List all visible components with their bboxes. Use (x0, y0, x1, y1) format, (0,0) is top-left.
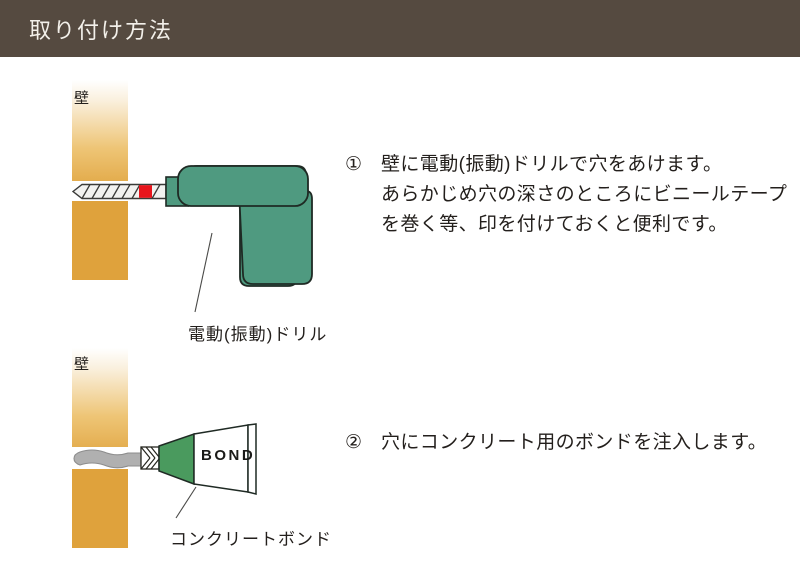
drill-bit (73, 185, 166, 199)
impact-drill-barrel (178, 166, 308, 206)
step-1-lines: 壁に電動(振動)ドリルで穴をあけます。 あらかじめ穴の深さのところにビニールテー… (381, 150, 787, 240)
bond-tube-brand-text: BOND (201, 447, 247, 464)
step-2-line-1: 穴にコンクリート用のボンドを注入します。 (381, 428, 767, 458)
leader-line-drill (195, 233, 212, 312)
step-2-lines: 穴にコンクリート用のボンドを注入します。 (381, 428, 767, 458)
caption-concrete-bond: コンクリートボンド (170, 525, 332, 550)
illustration-canvas (0, 0, 800, 580)
leader-line-bond (176, 487, 196, 518)
wall-label-figure-1: 壁 (74, 87, 89, 108)
step-1-number: ① (345, 150, 381, 180)
caption-impact-drill: 電動(振動)ドリル (188, 320, 327, 345)
step-1-line-1: 壁に電動(振動)ドリルで穴をあけます。 (381, 150, 787, 180)
instruction-step-1: ① 壁に電動(振動)ドリルで穴をあけます。 あらかじめ穴の深さのところにビニール… (345, 150, 787, 240)
bond-tube-neck (141, 447, 159, 469)
wall-label-figure-2: 壁 (74, 353, 89, 374)
instruction-step-2: ② 穴にコンクリート用のボンドを注入します。 (345, 428, 767, 458)
step-1-line-2: あらかじめ穴の深さのところにビニールテープ (381, 180, 787, 210)
step-1-line-3: を巻く等、印を付けておくと便利です。 (381, 210, 787, 240)
vinyl-tape-depth-marker (139, 185, 152, 198)
wall-slab-1 (72, 80, 128, 280)
step-2-number: ② (345, 428, 381, 458)
